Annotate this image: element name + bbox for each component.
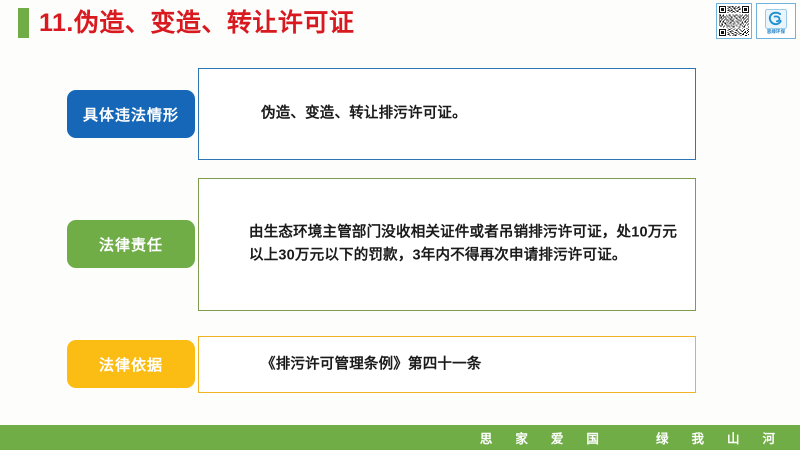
row-violation: 伪造、变造、转让排污许可证。 具体违法情形 (198, 68, 696, 160)
violation-panel: 伪造、变造、转让排污许可证。 (198, 68, 696, 160)
page-title: 11.伪造、变造、转让许可证 (18, 8, 354, 38)
footer-phrase-left: 思家爱国 (480, 428, 600, 447)
footer-right-glyph-0: 绿 (656, 428, 670, 447)
logo-caption: 思绿环保 (767, 30, 785, 34)
slide-header: 11.伪造、变造、转让许可证 (0, 0, 800, 56)
footer-left-glyph-2: 爱 (551, 428, 565, 447)
slide-root: 11.伪造、变造、转让许可证 (0, 0, 800, 450)
page-title-text: 11.伪造、变造、转让许可证 (39, 11, 354, 36)
label-liability[interactable]: 法律责任 (67, 220, 195, 268)
liability-content: 由生态环境主管部门没收相关证件或者吊销排污许可证，处10万元以上30万元以下的罚… (249, 221, 687, 268)
silv-huanbao-logo-icon[interactable]: 思绿环保 (756, 3, 796, 39)
row-liability: 由生态环境主管部门没收相关证件或者吊销排污许可证，处10万元以上30万元以下的罚… (198, 178, 696, 311)
violation-content: 伪造、变造、转让排污许可证。 (261, 102, 679, 125)
title-marker-icon (18, 8, 29, 38)
slide-footer: 思家爱国 绿我山河 (0, 425, 800, 450)
qr-code-icon[interactable] (716, 3, 752, 39)
row-basis: 《排污许可管理条例》第四十一条 法律依据 (198, 336, 696, 393)
footer-right-glyph-2: 山 (727, 428, 741, 447)
footer-right-glyph-3: 河 (762, 428, 776, 447)
footer-left-glyph-3: 国 (586, 428, 600, 447)
label-basis[interactable]: 法律依据 (67, 340, 195, 388)
label-violation[interactable]: 具体违法情形 (67, 90, 195, 138)
footer-left-glyph-0: 思 (480, 428, 494, 447)
brand-cluster: 思绿环保 (716, 3, 796, 39)
footer-right-glyph-1: 我 (691, 428, 705, 447)
liability-panel: 由生态环境主管部门没收相关证件或者吊销排污许可证，处10万元以上30万元以下的罚… (198, 178, 696, 311)
footer-left-glyph-1: 家 (515, 428, 529, 447)
basis-panel: 《排污许可管理条例》第四十一条 (198, 336, 696, 393)
basis-content: 《排污许可管理条例》第四十一条 (261, 353, 679, 376)
footer-phrase-right: 绿我山河 (656, 428, 776, 447)
